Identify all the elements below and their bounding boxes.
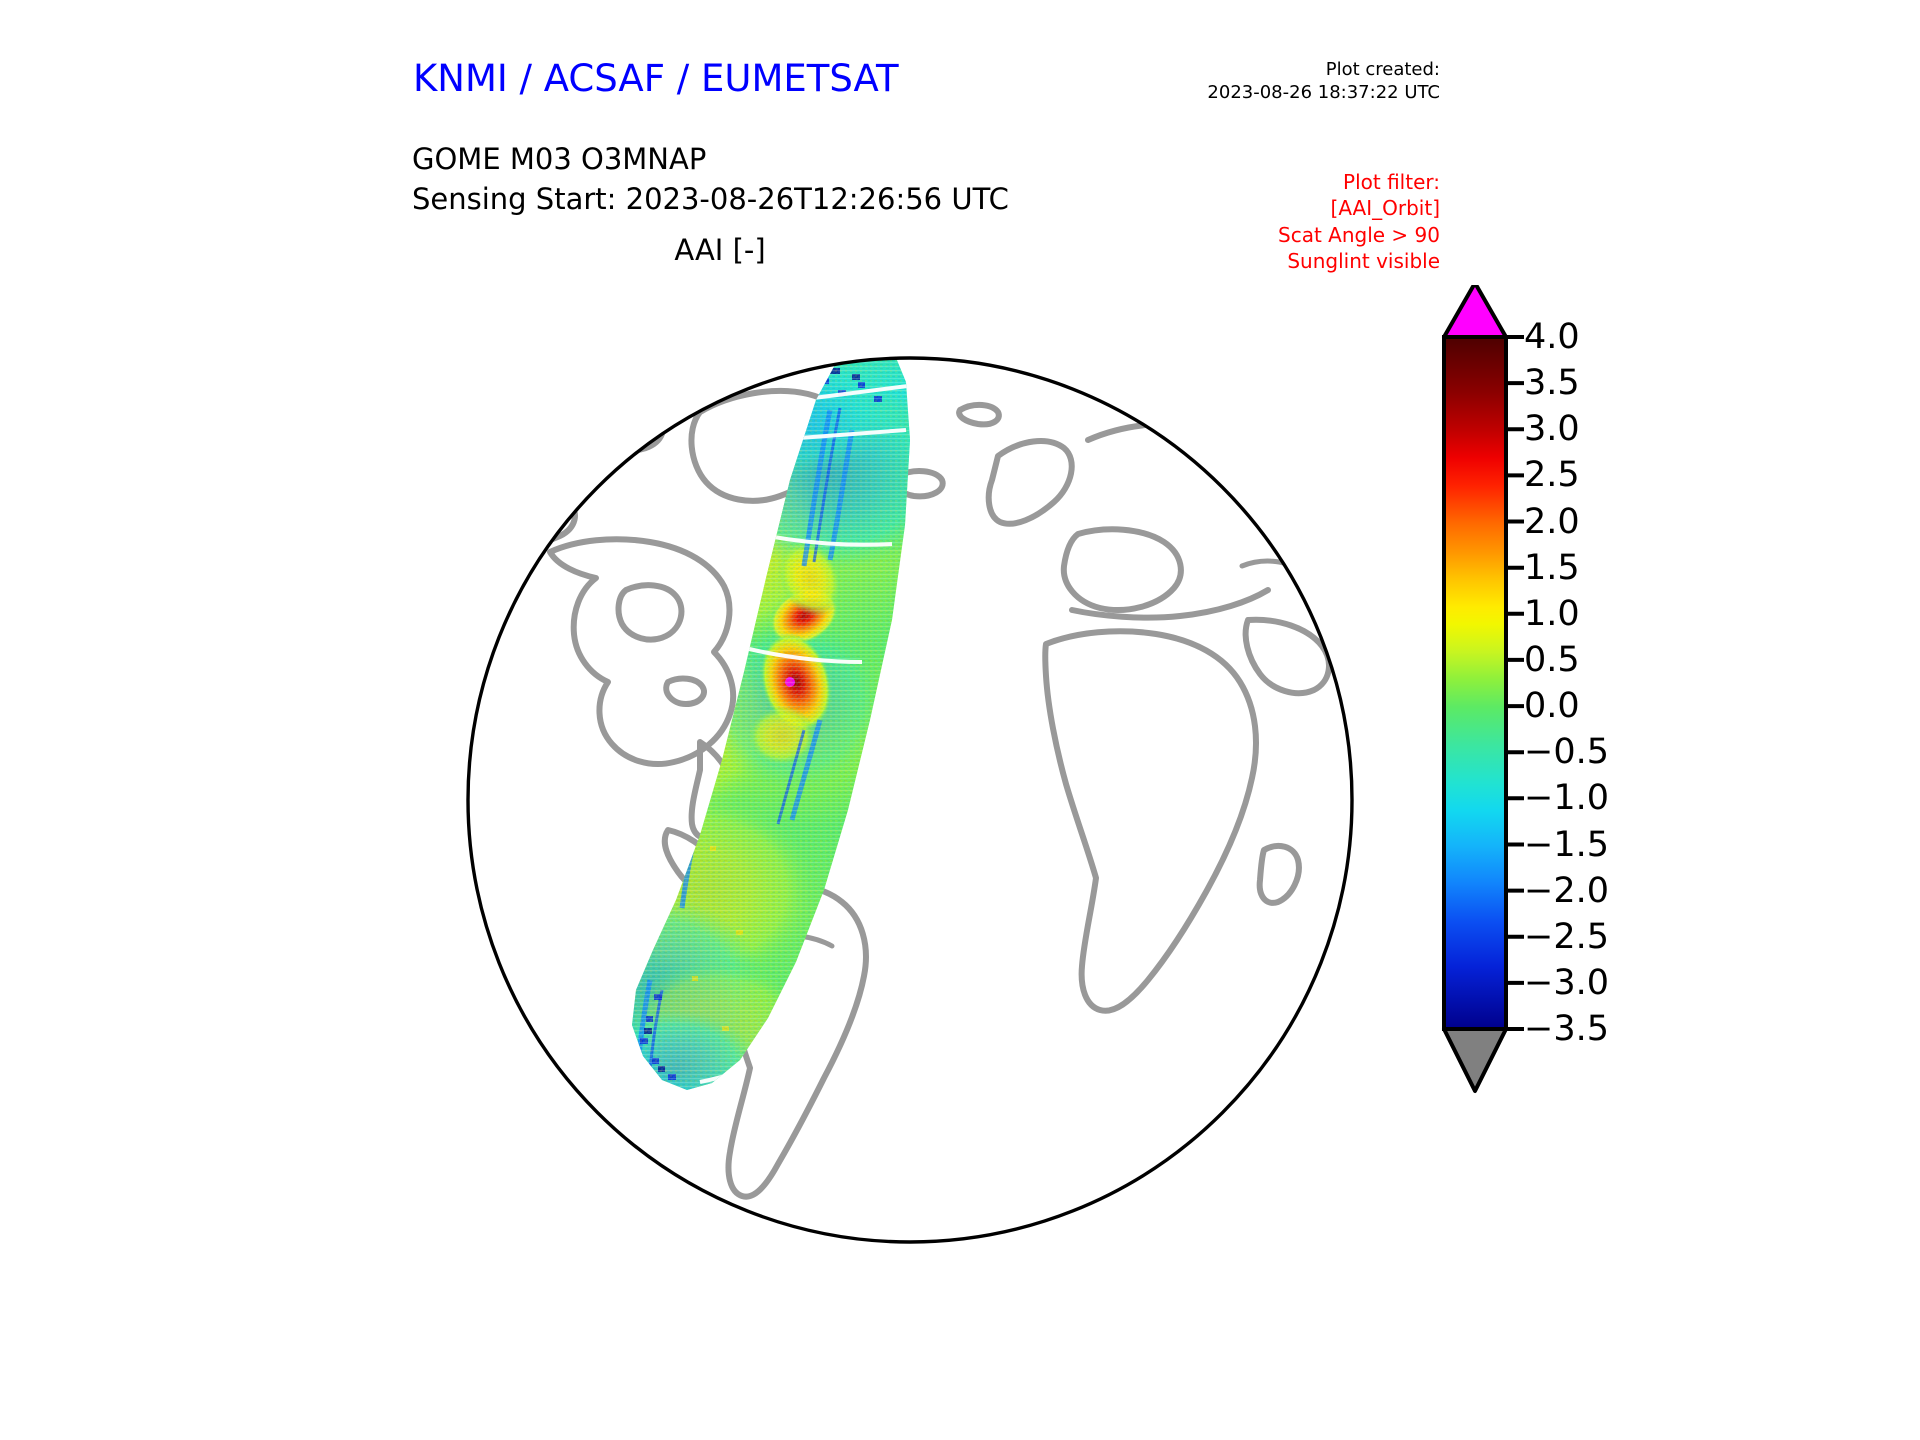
- colorbar-tick-label: 1.5: [1524, 548, 1580, 588]
- colorbar-tick-label: 1.0: [1524, 594, 1580, 634]
- plot-filter-line-3: Sunglint visible: [1090, 248, 1440, 274]
- plot-created-label: Plot created:: [1090, 58, 1440, 81]
- colorbar-tick-label: 2.0: [1524, 502, 1580, 542]
- colorbar-gradient: [1444, 337, 1506, 1029]
- colorbar-tick-label: −1.5: [1524, 825, 1609, 865]
- colorbar-tick-label: −2.5: [1524, 917, 1609, 957]
- colorbar-tick-label: 3.5: [1524, 363, 1580, 403]
- colorbar-tick-label: 2.5: [1524, 455, 1580, 495]
- colorbar-tick-label: −3.5: [1524, 1009, 1609, 1049]
- colorbar-tick-label: 3.0: [1524, 409, 1580, 449]
- plot-filter-line-1: [AAI_Orbit]: [1090, 195, 1440, 221]
- colorbar-tick-labels: 4.0 3.5 3.0 2.5 2.0 1.5 1.0 0.5 0.0 −0.5…: [1524, 285, 1704, 1095]
- colorbar-tick-label: −2.0: [1524, 871, 1609, 911]
- colorbar-over-range-arrow: [1444, 285, 1506, 337]
- colorbar-tick-label: 0.5: [1524, 640, 1580, 680]
- colorbar: 4.0 3.5 3.0 2.5 2.0 1.5 1.0 0.5 0.0 −0.5…: [1432, 285, 1862, 1095]
- colorbar-tick-label: 0.0: [1524, 686, 1580, 726]
- dataset-name: GOME M03 O3MNAP: [412, 140, 1009, 180]
- plot-canvas: KNMI / ACSAF / EUMETSAT Plot created: 20…: [0, 0, 1920, 1440]
- plot-filter-title: Plot filter:: [1090, 169, 1440, 195]
- map-area: [400, 290, 1420, 1310]
- plot-created-timestamp: 2023-08-26 18:37:22 UTC: [1090, 81, 1440, 104]
- plot-filter-block: Plot filter: [AAI_Orbit] Scat Angle > 90…: [1090, 169, 1440, 275]
- plot-created-block: Plot created: 2023-08-26 18:37:22 UTC: [1090, 58, 1440, 105]
- dataset-block: GOME M03 O3MNAP Sensing Start: 2023-08-2…: [412, 140, 1009, 219]
- colorbar-ticks: [1506, 337, 1524, 1029]
- colorbar-tick-label: 4.0: [1524, 317, 1580, 357]
- orthographic-globe: [400, 290, 1420, 1310]
- plot-filter-line-2: Scat Angle > 90: [1090, 222, 1440, 248]
- globe-disc: [468, 358, 1352, 1242]
- colorbar-tick-label: −3.0: [1524, 963, 1609, 1003]
- sensing-start: Sensing Start: 2023-08-26T12:26:56 UTC: [412, 180, 1009, 220]
- colorbar-tick-label: −1.0: [1524, 778, 1609, 818]
- organisation-title: KNMI / ACSAF / EUMETSAT: [413, 57, 899, 100]
- colorbar-under-range-arrow: [1444, 1029, 1506, 1091]
- colorbar-tick-label: −0.5: [1524, 732, 1609, 772]
